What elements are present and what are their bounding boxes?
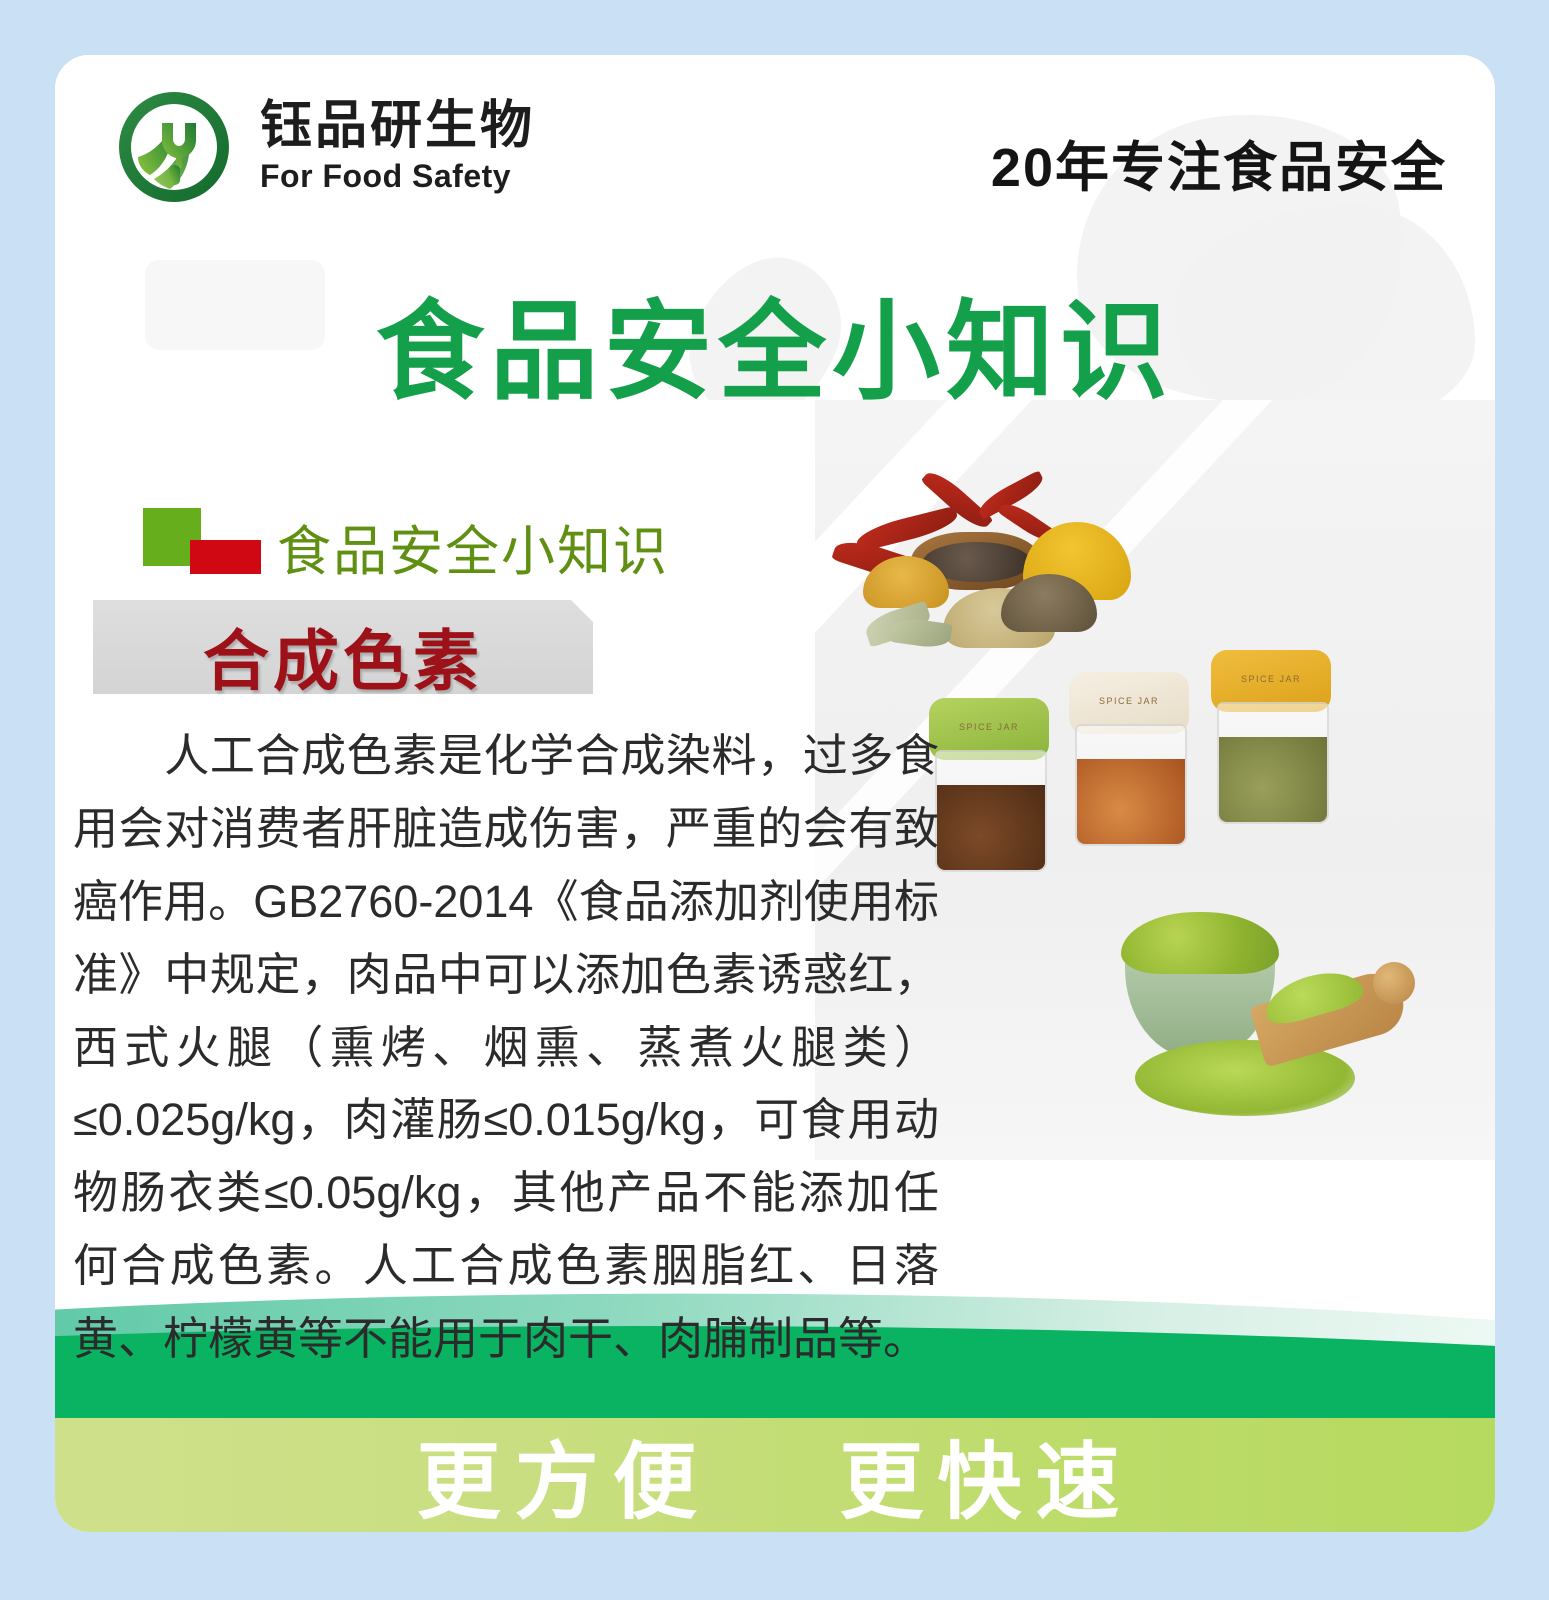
jar-label-green: SPICE JAR — [929, 722, 1049, 732]
spice-jar-green: SPICE JAR — [925, 698, 1053, 873]
leaf-circle-logo-icon — [110, 83, 238, 211]
footer-slogan: 更方便 更快速 — [417, 1415, 1134, 1533]
brand-name-en: For Food Safety — [260, 158, 535, 195]
brand-logo-block: 钰品研生物 For Food Safety — [110, 83, 535, 211]
brand-text: 钰品研生物 For Food Safety — [260, 99, 535, 195]
brand-name-cn: 钰品研生物 — [260, 99, 535, 154]
jar-label-yellow: SPICE JAR — [1211, 674, 1331, 684]
section-title: 食品安全小知识 — [277, 507, 669, 586]
green-powder-photo — [1105, 890, 1435, 1140]
poster-card: 钰品研生物 For Food Safety 20年专注食品安全 食品安全小知识 — [55, 55, 1495, 1532]
article-paragraph: 人工合成色素是化学合成染料，过多食用会对消费者肝脏造成伤害，严重的会有致癌作用。… — [73, 720, 939, 1376]
jar-glass-yellow — [1217, 702, 1329, 824]
section-marker-red-icon — [190, 540, 261, 574]
article-paragraph-text: 人工合成色素是化学合成染料，过多食用会对消费者肝脏造成伤害，严重的会有致癌作用。… — [73, 720, 939, 1376]
spices-photo — [825, 470, 1155, 660]
jar-glass-green — [935, 750, 1047, 872]
jar-glass-cream — [1075, 724, 1187, 846]
spice-jar-cream: SPICE JAR — [1065, 672, 1193, 847]
poster-body: SPICE JAR SPICE JAR SPICE — [55, 400, 1495, 1418]
powder-heap — [1121, 912, 1279, 974]
topic-badge-label: 合成色素 — [93, 608, 593, 704]
spice-jars-photo: SPICE JAR SPICE JAR SPICE — [925, 650, 1355, 890]
footer-slogan-right: 更快速 — [839, 1435, 1133, 1529]
spice-jar-yellow: SPICE JAR — [1207, 650, 1335, 825]
poster-header: 钰品研生物 For Food Safety 20年专注食品安全 食品安全小知识 — [55, 55, 1495, 400]
scoop-handle — [1373, 962, 1415, 1004]
header-tagline: 20年专注食品安全 — [991, 123, 1447, 202]
jar-label-cream: SPICE JAR — [1069, 696, 1189, 706]
page-title: 食品安全小知识 — [55, 298, 1495, 400]
poster-footer: 更方便 更快速 — [55, 1418, 1495, 1532]
footer-slogan-left: 更方便 — [417, 1435, 711, 1529]
